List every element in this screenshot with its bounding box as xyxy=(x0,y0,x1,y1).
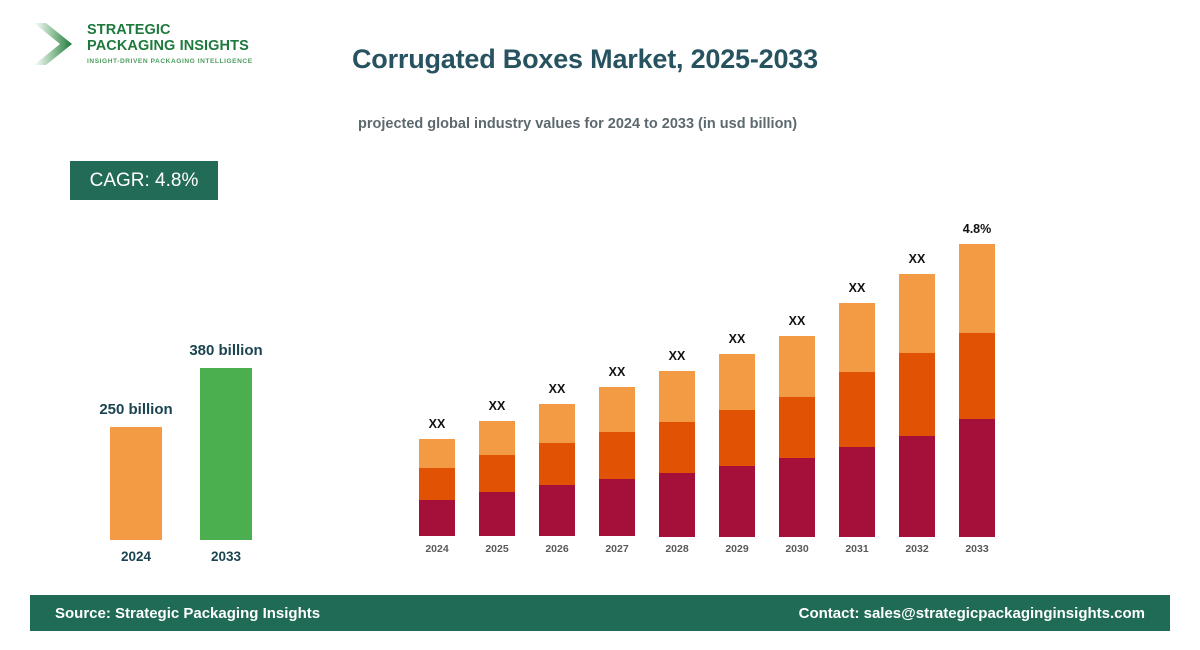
stacked-bar-segment xyxy=(659,422,695,473)
brand-logo-line1: STRATEGIC xyxy=(87,23,253,39)
stacked-bar-value-label: XX xyxy=(752,314,842,328)
stacked-bar-value-label: XX xyxy=(572,365,662,379)
stacked-bar-value-label: XX xyxy=(452,399,542,413)
stacked-bar xyxy=(839,303,875,537)
stacked-bar xyxy=(659,371,695,537)
stacked-bar-segment xyxy=(779,336,815,397)
stacked-bar-value-label: XX xyxy=(512,382,602,396)
stacked-bar-year-label: 2031 xyxy=(827,543,887,555)
stacked-bar xyxy=(419,439,455,537)
stacked-bar-segment xyxy=(719,354,755,410)
stacked-bar xyxy=(479,421,515,537)
comparison-bar-group xyxy=(200,368,252,540)
stacked-bar xyxy=(779,336,815,537)
stacked-bar-year-label: 2028 xyxy=(647,543,707,555)
stacked-bar-segment xyxy=(539,443,575,485)
stacked-bar-segment xyxy=(899,353,935,436)
stacked-bar-segment xyxy=(419,439,455,468)
stacked-bar-segment xyxy=(479,455,515,492)
stacked-bar-value-label: XX xyxy=(812,281,902,295)
stacked-bar-segment xyxy=(719,466,755,537)
stacked-bar-chart: XX2024XX2025XX2026XX2027XX2028XX2029XX20… xyxy=(400,195,1020,555)
stacked-bar xyxy=(599,387,635,537)
brand-logo-text: STRATEGIC PACKAGING INSIGHTS INSIGHT-DRI… xyxy=(87,23,253,65)
comparison-bar xyxy=(200,368,252,540)
chevron-logo-icon xyxy=(30,16,80,72)
comparison-bar-group xyxy=(110,427,162,540)
stacked-bar-segment xyxy=(539,404,575,443)
stacked-bar-year-label: 2027 xyxy=(587,543,647,555)
stacked-bar-segment xyxy=(959,333,995,419)
stacked-bar-year-label: 2033 xyxy=(947,543,1007,555)
stacked-bar-year-label: 2024 xyxy=(407,543,467,555)
stacked-bar-segment xyxy=(419,468,455,500)
comparison-value-label: 250 billion xyxy=(56,401,216,418)
stacked-bar-segment xyxy=(659,371,695,422)
stacked-bar-segment xyxy=(899,436,935,537)
stacked-bar-year-label: 2025 xyxy=(467,543,527,555)
stacked-bar-value-label: XX xyxy=(872,252,962,266)
comparison-chart: 250 billion2024380 billion2033 xyxy=(60,320,280,570)
footer-bar: Source: Strategic Packaging Insights Con… xyxy=(30,595,1170,631)
stacked-bar-segment xyxy=(599,479,635,536)
brand-logo-line2: PACKAGING INSIGHTS xyxy=(87,39,253,55)
stacked-bar-segment xyxy=(779,397,815,458)
comparison-bar xyxy=(110,427,162,540)
comparison-year-label: 2033 xyxy=(146,549,306,564)
stacked-bar-value-label: XX xyxy=(392,417,482,431)
stacked-bar-segment xyxy=(599,387,635,432)
stacked-bar-segment xyxy=(479,492,515,536)
stacked-bar-segment xyxy=(599,432,635,479)
stacked-bar-segment xyxy=(839,303,875,372)
stacked-bar-segment xyxy=(839,447,875,537)
stacked-bar-segment xyxy=(899,274,935,353)
stacked-bar-segment xyxy=(479,421,515,455)
stacked-bar-segment xyxy=(419,500,455,536)
stacked-bar-segment xyxy=(839,372,875,447)
stacked-bar-year-label: 2030 xyxy=(767,543,827,555)
infographic-canvas: STRATEGIC PACKAGING INSIGHTS INSIGHT-DRI… xyxy=(0,0,1200,650)
stacked-bar-year-label: 2032 xyxy=(887,543,947,555)
stacked-bar-value-label: 4.8% xyxy=(932,222,1022,236)
brand-tagline: INSIGHT-DRIVEN PACKAGING INTELLIGENCE xyxy=(87,58,253,65)
brand-logo: STRATEGIC PACKAGING INSIGHTS INSIGHT-DRI… xyxy=(30,16,253,72)
stacked-bar xyxy=(899,274,935,537)
page-title: Corrugated Boxes Market, 2025-2033 xyxy=(352,44,818,75)
stacked-bar-value-label: XX xyxy=(632,349,722,363)
stacked-bar xyxy=(959,244,995,537)
stacked-bar-year-label: 2029 xyxy=(707,543,767,555)
stacked-bar-year-label: 2026 xyxy=(527,543,587,555)
stacked-bar-segment xyxy=(719,410,755,466)
footer-source: Source: Strategic Packaging Insights xyxy=(55,605,320,622)
stacked-bar-segment xyxy=(959,419,995,537)
stacked-bar-segment xyxy=(779,458,815,537)
footer-contact: Contact: sales@strategicpackaginginsight… xyxy=(799,605,1145,622)
cagr-badge: CAGR: 4.8% xyxy=(70,161,218,200)
stacked-bar xyxy=(539,404,575,537)
stacked-bar-segment xyxy=(659,473,695,537)
stacked-bar-value-label: XX xyxy=(692,332,782,346)
stacked-bar-segment xyxy=(959,244,995,333)
stacked-bar xyxy=(719,354,755,537)
page-subtitle: projected global industry values for 202… xyxy=(358,116,797,132)
comparison-value-label: 380 billion xyxy=(146,342,306,359)
stacked-bar-segment xyxy=(539,485,575,536)
